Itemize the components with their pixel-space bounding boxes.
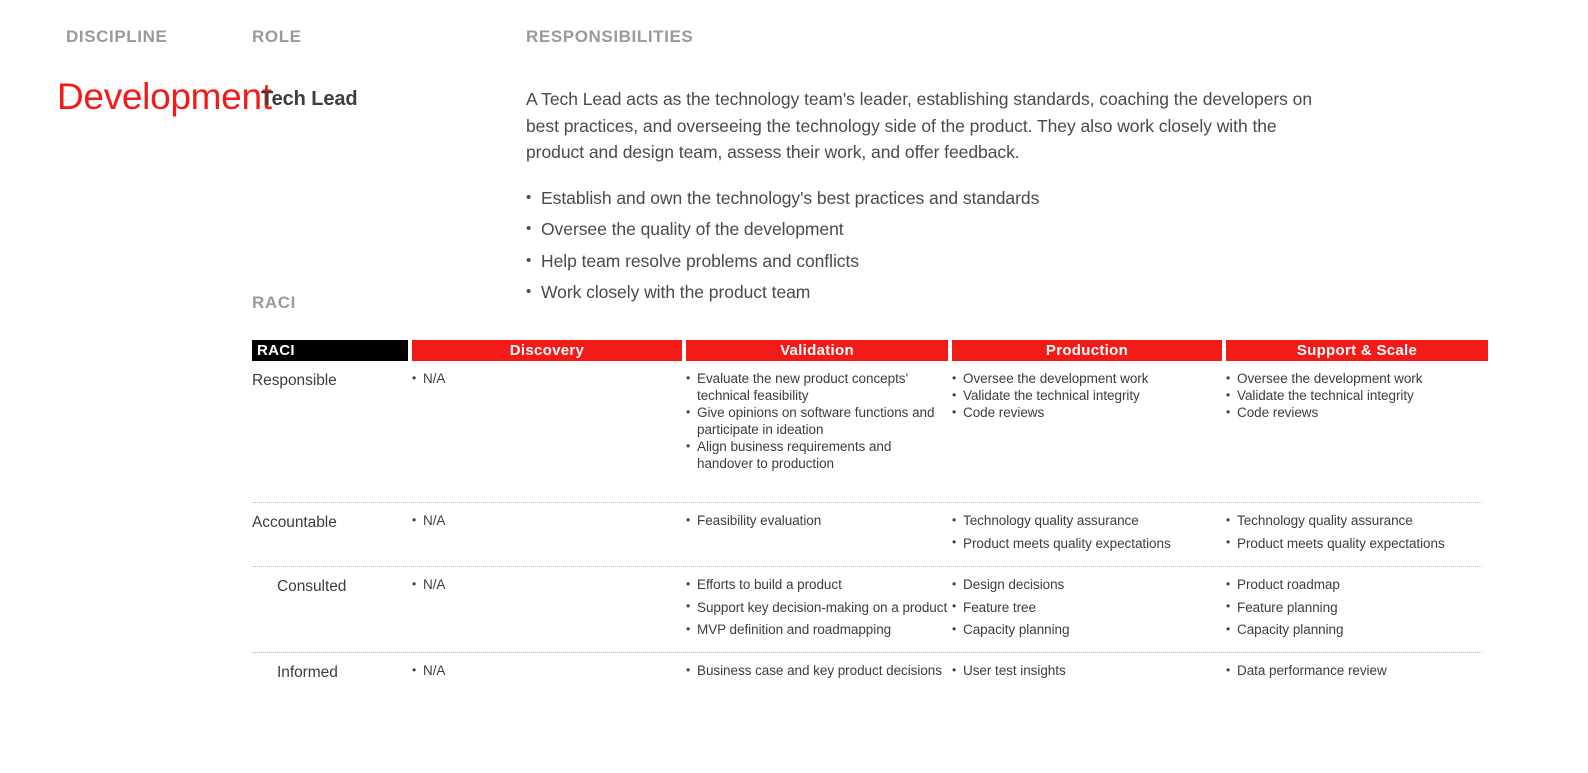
- raci-cell-production: Design decisions Feature tree Capacity p…: [952, 576, 1222, 644]
- raci-row-label: Consulted: [252, 576, 408, 644]
- list-item: Oversee the development work: [1226, 370, 1488, 387]
- table-row: Consulted N/A Efforts to build a product…: [252, 567, 1482, 653]
- raci-table-header-row: RACI Discovery Validation Production Sup…: [252, 340, 1482, 361]
- list-item: N/A: [412, 370, 682, 387]
- responsibilities-block: A Tech Lead acts as the technology team'…: [526, 86, 1316, 314]
- list-item: Product meets quality expectations: [952, 535, 1222, 552]
- raci-cell-validation: Business case and key product decisions: [686, 662, 948, 689]
- raci-cell-discovery: N/A: [412, 576, 682, 644]
- raci-header-cell-support-scale: Support & Scale: [1226, 340, 1488, 361]
- raci-cell-discovery: N/A: [412, 370, 682, 494]
- raci-cell-discovery: N/A: [412, 662, 682, 689]
- raci-cell-production: Technology quality assurance Product mee…: [952, 512, 1222, 558]
- list-item: Code reviews: [1226, 404, 1488, 421]
- raci-cell-support-scale: Data performance review: [1226, 662, 1488, 689]
- list-item: N/A: [412, 662, 682, 679]
- table-row: Accountable N/A Feasibility evaluation T…: [252, 503, 1482, 567]
- list-item: Align business requirements and handover…: [686, 438, 948, 472]
- list-item: Technology quality assurance: [952, 512, 1222, 529]
- list-item: Efforts to build a product: [686, 576, 948, 593]
- responsibility-item: Work closely with the product team: [526, 282, 1316, 303]
- list-item: Capacity planning: [952, 621, 1222, 638]
- raci-header-cell-production: Production: [952, 340, 1222, 361]
- responsibility-item: Establish and own the technology's best …: [526, 188, 1316, 209]
- table-row: Informed N/A Business case and key produ…: [252, 653, 1482, 697]
- column-label-role: ROLE: [252, 27, 302, 47]
- list-item: Support key decision-making on a product: [686, 599, 948, 616]
- raci-role-sheet: DISCIPLINE ROLE RESPONSIBILITIES Develop…: [0, 0, 1588, 773]
- list-item: Feature tree: [952, 599, 1222, 616]
- raci-row-label: Responsible: [252, 370, 408, 494]
- raci-row-label: Informed: [252, 662, 408, 689]
- list-item: Design decisions: [952, 576, 1222, 593]
- column-label-responsibilities: RESPONSIBILITIES: [526, 27, 693, 47]
- list-item: Give opinions on software functions and …: [686, 404, 948, 438]
- raci-cell-discovery: N/A: [412, 512, 682, 558]
- table-row: Responsible N/A Evaluate the new product…: [252, 361, 1482, 503]
- list-item: Evaluate the new product concepts' techn…: [686, 370, 948, 404]
- list-item: Capacity planning: [1226, 621, 1488, 638]
- list-item: Feature planning: [1226, 599, 1488, 616]
- responsibilities-paragraph: A Tech Lead acts as the technology team'…: [526, 86, 1316, 166]
- raci-cell-support-scale: Product roadmap Feature planning Capacit…: [1226, 576, 1488, 644]
- role-name: Tech Lead: [261, 88, 358, 111]
- list-item: MVP definition and roadmapping: [686, 621, 948, 638]
- responsibilities-bullet-list: Establish and own the technology's best …: [526, 188, 1316, 304]
- discipline-name: Development: [57, 76, 242, 117]
- list-item: N/A: [412, 512, 682, 529]
- list-item: Technology quality assurance: [1226, 512, 1488, 529]
- raci-cell-validation: Evaluate the new product concepts' techn…: [686, 370, 948, 494]
- list-item: Product roadmap: [1226, 576, 1488, 593]
- raci-row-label: Accountable: [252, 512, 408, 558]
- raci-cell-validation: Feasibility evaluation: [686, 512, 948, 558]
- column-label-discipline: DISCIPLINE: [66, 27, 167, 47]
- responsibility-item: Oversee the quality of the development: [526, 219, 1316, 240]
- responsibility-item: Help team resolve problems and conflicts: [526, 251, 1316, 272]
- raci-header-cell-label: RACI: [252, 340, 408, 361]
- raci-cell-validation: Efforts to build a product Support key d…: [686, 576, 948, 644]
- raci-cell-support-scale: Oversee the development work Validate th…: [1226, 370, 1488, 494]
- raci-header-cell-validation: Validation: [686, 340, 948, 361]
- raci-cell-support-scale: Technology quality assurance Product mee…: [1226, 512, 1488, 558]
- list-item: Validate the technical integrity: [952, 387, 1222, 404]
- list-item: Product meets quality expectations: [1226, 535, 1488, 552]
- list-item: Feasibility evaluation: [686, 512, 948, 529]
- raci-cell-production: User test insights: [952, 662, 1222, 689]
- raci-section-heading: RACI: [252, 293, 296, 313]
- list-item: Business case and key product decisions: [686, 662, 948, 679]
- list-item: Code reviews: [952, 404, 1222, 421]
- list-item: Data performance review: [1226, 662, 1488, 679]
- list-item: Validate the technical integrity: [1226, 387, 1488, 404]
- list-item: N/A: [412, 576, 682, 593]
- raci-table: RACI Discovery Validation Production Sup…: [252, 340, 1482, 697]
- raci-cell-production: Oversee the development work Validate th…: [952, 370, 1222, 494]
- list-item: Oversee the development work: [952, 370, 1222, 387]
- raci-header-cell-discovery: Discovery: [412, 340, 682, 361]
- list-item: User test insights: [952, 662, 1222, 679]
